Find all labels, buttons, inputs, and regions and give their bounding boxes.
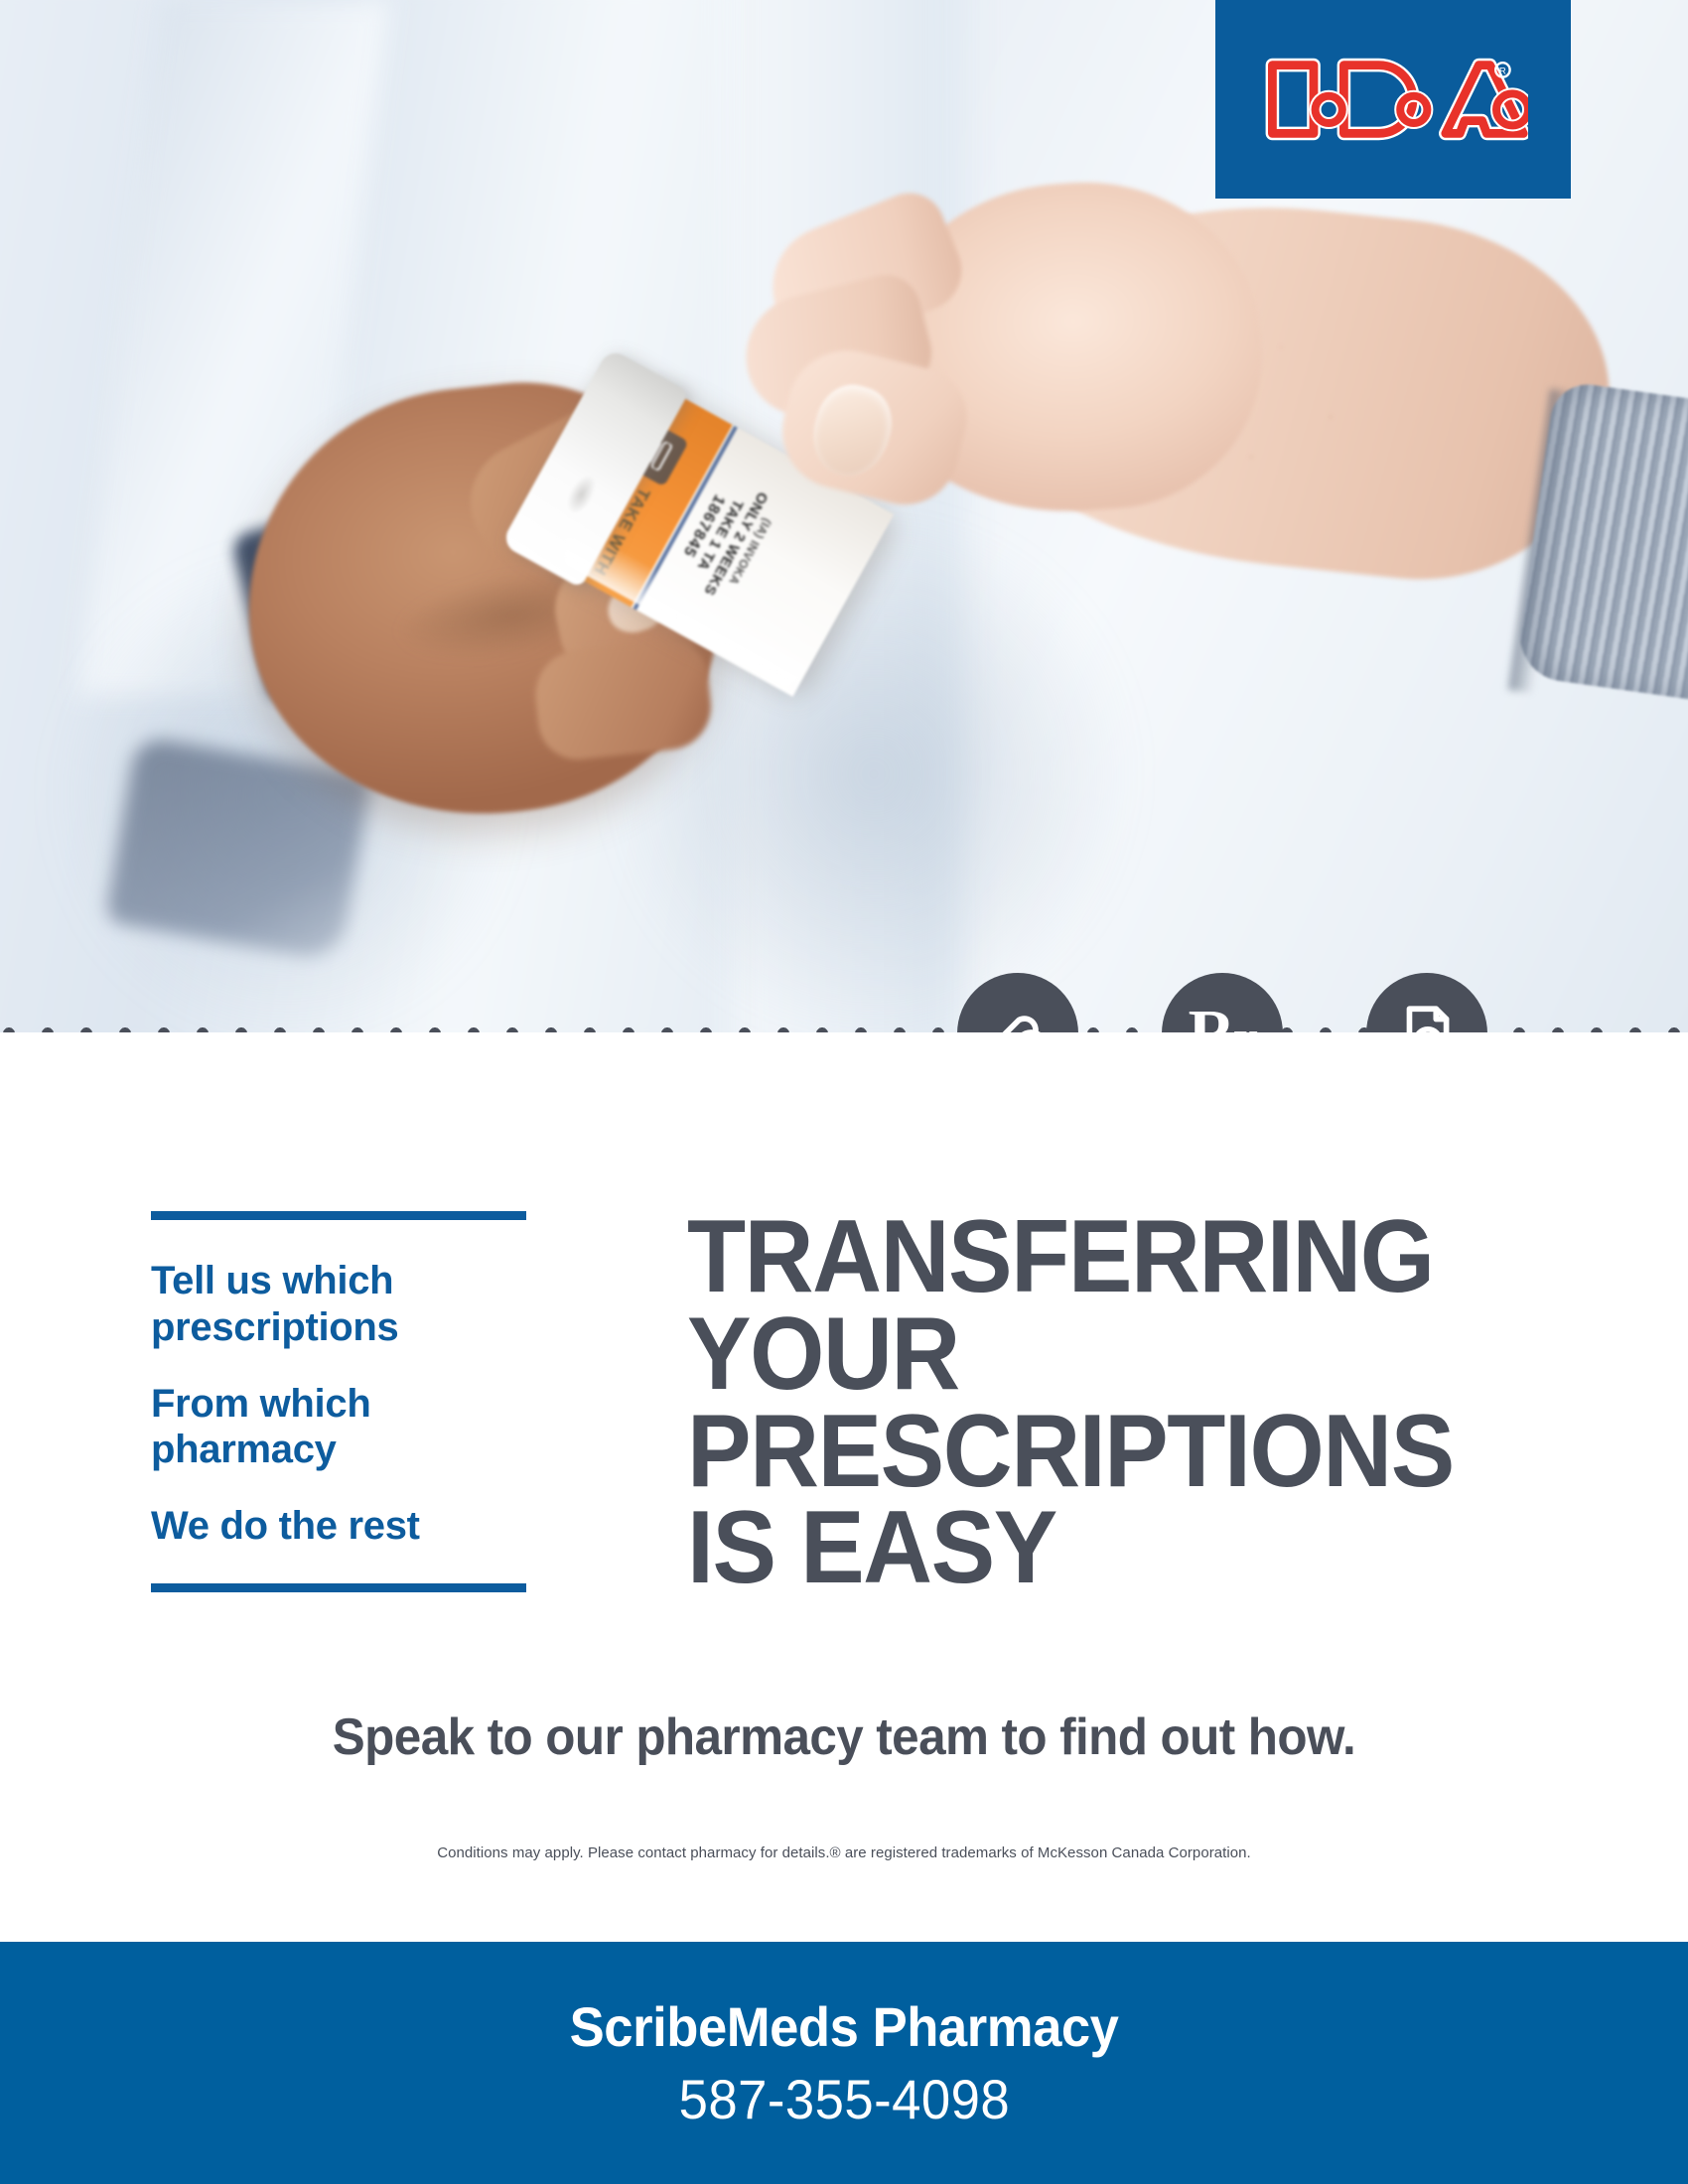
pharmacy-phone[interactable]: 587-355-4098 [678,2067,1009,2131]
headline-line-4: IS EASY [687,1500,1490,1597]
steps-list: Tell us which prescriptions From which p… [151,1211,528,1592]
step-item-2: From which pharmacy [151,1381,528,1474]
headline-line-2: YOUR [687,1306,1490,1404]
steps-rule-bottom [151,1583,526,1592]
tagline: Speak to our pharmacy team to find out h… [43,1707,1646,1767]
icon-badge-row: Rx [0,0,1688,1092]
headline-line-3: PRESCRIPTIONS [687,1404,1490,1501]
step-item-3: We do the rest [151,1503,528,1550]
step-item-1: Tell us which prescriptions [151,1258,528,1351]
steps-items: Tell us which prescriptions From which p… [151,1258,528,1550]
disclaimer-text: Conditions may apply. Please contact pha… [0,1844,1688,1861]
footer-bar: ScribeMeds Pharmacy 587-355-4098 [0,1942,1688,2184]
steps-rule-top [151,1211,526,1220]
headline-line-1: TRANSFERRING [687,1209,1490,1306]
page-title: TRANSFERRING YOUR PRESCRIPTIONS IS EASY [687,1209,1490,1597]
pharmacy-name: ScribeMeds Pharmacy [570,1994,1119,2059]
